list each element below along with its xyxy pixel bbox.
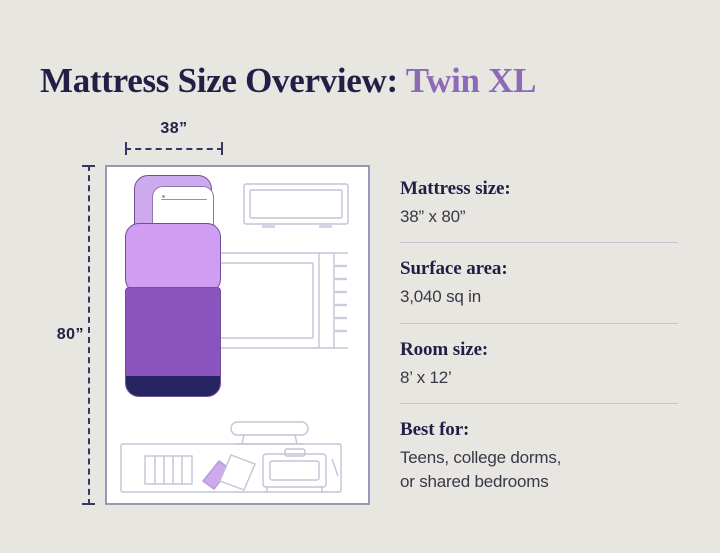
spec-value: 3,040 sq in — [400, 285, 678, 308]
monitor-icon — [263, 449, 326, 492]
spec-value-line: 38” x 80” — [400, 205, 678, 228]
spec-label: Mattress size: — [400, 178, 678, 200]
specs-panel: Mattress size: 38” x 80” Surface area: 3… — [400, 178, 678, 507]
footboard — [126, 376, 220, 396]
room-floorplan — [105, 165, 370, 505]
spec-label: Best for: — [400, 419, 678, 441]
spec-label: Room size: — [400, 339, 678, 361]
width-dimension: 38” — [125, 120, 223, 160]
spec-value-line: Teens, college dorms, — [400, 446, 678, 469]
pen-icon — [332, 459, 338, 476]
width-dimension-cap-right — [221, 142, 223, 155]
spec-surface-area: Surface area: 3,040 sq in — [400, 242, 678, 322]
spec-label: Surface area: — [400, 258, 678, 280]
height-dimension: 80” — [70, 165, 110, 505]
spec-room-size: Room size: 8’ x 12’ — [400, 323, 678, 403]
nightstand-icon — [244, 184, 348, 228]
height-dimension-label: 80” — [28, 326, 84, 344]
width-dimension-label: 38” — [125, 120, 223, 138]
width-dimension-cap-left — [125, 142, 127, 155]
height-dimension-cap-bottom — [82, 503, 95, 505]
spec-mattress-size: Mattress size: 38” x 80” — [400, 178, 678, 242]
mattress-body — [125, 287, 221, 397]
spec-best-for: Best for: Teens, college dorms, or share… — [400, 403, 678, 507]
rug-fringe-icon — [334, 266, 347, 331]
pillow-crease — [161, 199, 207, 200]
page-title-main: Mattress Size Overview: — [40, 61, 398, 100]
spec-value: 38” x 80” — [400, 205, 678, 228]
height-dimension-line — [88, 165, 90, 505]
page-title: Mattress Size Overview: Twin XL — [40, 61, 536, 101]
spec-value-line: or shared bedrooms — [400, 470, 678, 493]
spec-value: Teens, college dorms, or shared bedrooms — [400, 446, 678, 493]
width-dimension-line — [125, 148, 223, 150]
height-dimension-cap-top — [82, 165, 95, 167]
books-icon — [145, 456, 192, 484]
spec-value-line: 3,040 sq in — [400, 285, 678, 308]
spec-value-line: 8’ x 12’ — [400, 366, 678, 389]
desk-chair-icon — [231, 422, 308, 444]
bed-illustration — [125, 175, 221, 397]
page-title-accent: Twin XL — [406, 61, 536, 100]
room-diagram: 38” 80” — [0, 110, 400, 530]
duvet — [125, 223, 221, 293]
notebooks-icon — [203, 455, 255, 490]
spec-value: 8’ x 12’ — [400, 366, 678, 389]
pillow-dot — [162, 195, 165, 198]
